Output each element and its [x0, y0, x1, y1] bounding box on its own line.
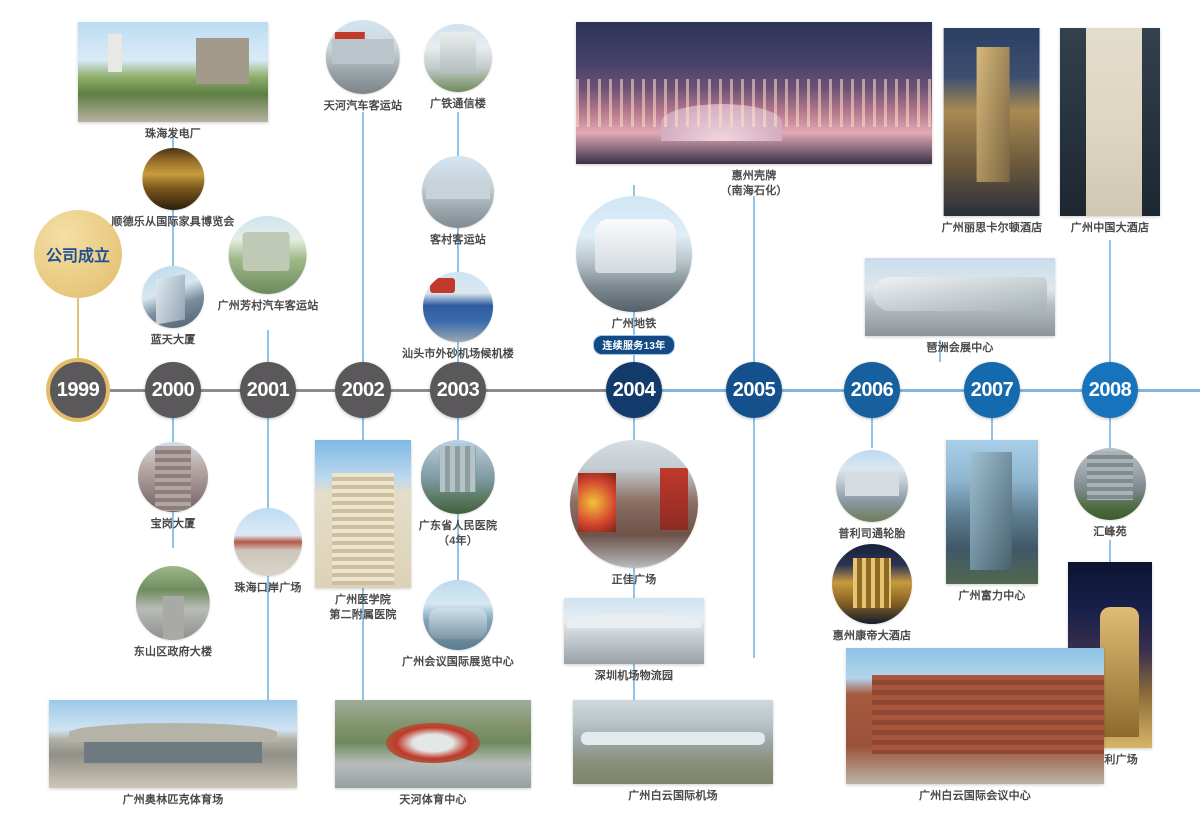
caption: 顺德乐从国际家具博览会 [111, 215, 234, 230]
year-label: 2005 [733, 379, 776, 402]
item-gz-olympic-stadium[interactable]: 广州奥林匹克体育场 [49, 700, 297, 808]
year-node-2007[interactable]: 2007 [964, 362, 1020, 418]
item-baogang-building[interactable]: 宝岗大厦 [138, 442, 208, 532]
item-ritz-carlton-gz[interactable]: 广州丽思卡尔顿酒店 [942, 28, 1043, 236]
caption: 广铁通信楼 [424, 97, 492, 112]
caption: 广州医学院 第二附属医院 [315, 593, 411, 622]
year-node-2004[interactable]: 2004 [606, 362, 662, 418]
caption: 东山区政府大楼 [134, 645, 212, 660]
photo-dongshan-gov-building [136, 566, 210, 640]
photo-huizhou-shell [576, 22, 932, 164]
photo-gd-peoples-hospital [421, 440, 495, 514]
item-shantou-airport[interactable]: 汕头市外砂机场候机楼 [402, 272, 514, 362]
year-node-2002[interactable]: 2002 [335, 362, 391, 418]
caption: 宝岗大厦 [138, 517, 208, 532]
item-bridgestone-tire[interactable]: 普利司通轮胎 [836, 450, 908, 542]
photo-zhuhai-power-plant [78, 22, 268, 122]
caption: 惠州康帝大酒店 [832, 629, 912, 644]
caption: 普利司通轮胎 [836, 527, 908, 542]
year-label: 2002 [342, 379, 385, 402]
photo-shantou-airport [423, 272, 493, 342]
photo-huifeng-yuan [1074, 448, 1146, 520]
caption: 惠州壳牌 （南海石化） [576, 169, 932, 198]
item-dongshan-gov-building[interactable]: 东山区政府大楼 [134, 566, 212, 660]
year-label: 2007 [971, 379, 1014, 402]
year-label: 2000 [152, 379, 195, 402]
stem-2008-up [1109, 240, 1111, 362]
founding-label: 公司成立 [46, 242, 110, 266]
item-guangzhou-metro[interactable]: 广州地铁 连续服务13年 [576, 196, 692, 355]
stem-2005-up [753, 196, 755, 362]
year-node-2003[interactable]: 2003 [430, 362, 486, 418]
year-node-2000[interactable]: 2000 [145, 362, 201, 418]
photo-tianhe-sports-center [335, 700, 531, 788]
photo-gz-intl-convention [423, 580, 493, 650]
item-gz-railway-telecom[interactable]: 广铁通信楼 [424, 24, 492, 112]
caption: 琶洲会展中心 [865, 341, 1055, 356]
caption: 广州会议国际展览中心 [402, 655, 514, 670]
item-huifeng-yuan[interactable]: 汇峰苑 [1074, 448, 1146, 540]
year-label: 1999 [57, 379, 100, 402]
photo-pazhou-expo-center [865, 258, 1055, 336]
year-label: 2004 [613, 379, 656, 402]
caption: 天河体育中心 [335, 793, 531, 808]
caption: 天河汽车客运站 [324, 99, 402, 114]
caption: 广州芳村汽车客运站 [218, 299, 319, 314]
caption: 汕头市外砂机场候机楼 [402, 347, 514, 362]
item-shunde-furniture-expo[interactable]: 顺德乐从国际家具博览会 [111, 148, 234, 230]
photo-huizhou-kangdi-hotel [832, 544, 912, 624]
stem-2008-down [1109, 418, 1111, 448]
caption: 广州奥林匹克体育场 [49, 793, 297, 808]
photo-lantian-building [142, 266, 204, 328]
caption: 广州富力中心 [946, 589, 1038, 604]
caption: 广州白云国际会议中心 [846, 789, 1104, 804]
year-node-1999[interactable]: 1999 [50, 362, 106, 418]
photo-baiyun-intl-conv-ctr [846, 648, 1104, 784]
item-shenzhen-air-logistics[interactable]: 深圳机场物流园 [564, 598, 704, 684]
item-huizhou-shell[interactable]: 惠州壳牌 （南海石化） [576, 22, 932, 198]
photo-gz-olympic-stadium [49, 700, 297, 788]
item-zhuhai-power-plant[interactable]: 珠海发电厂 [78, 22, 268, 142]
stem-2005-down [753, 418, 755, 658]
photo-tianhe-bus-station [326, 20, 400, 94]
metro-service-badge: 连续服务13年 [593, 335, 674, 355]
photo-shunde-furniture-expo [142, 148, 204, 210]
photo-gz-railway-telecom [424, 24, 492, 92]
photo-fangcun-bus-station [229, 216, 307, 294]
year-label: 2003 [437, 379, 480, 402]
item-gd-peoples-hospital[interactable]: 广东省人民医院 （4年） [419, 440, 497, 548]
item-fangcun-bus-station[interactable]: 广州芳村汽车客运站 [218, 216, 319, 314]
founding-bubble[interactable]: 公司成立 [34, 210, 122, 298]
year-node-2005[interactable]: 2005 [726, 362, 782, 418]
caption: 正佳广场 [570, 573, 698, 588]
stem-2002-up [362, 112, 364, 362]
item-baiyun-intl-conv-ctr[interactable]: 广州白云国际会议中心 [846, 648, 1104, 804]
year-label: 2008 [1089, 379, 1132, 402]
photo-bridgestone-tire [836, 450, 908, 522]
caption: 汇峰苑 [1074, 525, 1146, 540]
year-node-2006[interactable]: 2006 [844, 362, 900, 418]
item-baiyun-intl-airport[interactable]: 广州白云国际机场 [573, 700, 773, 804]
item-zhengjia-plaza[interactable]: 正佳广场 [570, 440, 698, 588]
item-lantian-building[interactable]: 蓝天大厦 [142, 266, 204, 348]
item-huizhou-kangdi-hotel[interactable]: 惠州康帝大酒店 [832, 544, 912, 644]
item-gz-intl-convention[interactable]: 广州会议国际展览中心 [402, 580, 514, 670]
caption: 广州白云国际机场 [573, 789, 773, 804]
item-kecun-bus-station[interactable]: 客村客运站 [422, 156, 494, 248]
year-node-2008[interactable]: 2008 [1082, 362, 1138, 418]
caption: 广东省人民医院 （4年） [419, 519, 497, 548]
item-pazhou-expo-center[interactable]: 琶洲会展中心 [865, 258, 1055, 356]
caption: 广州丽思卡尔顿酒店 [942, 221, 1043, 236]
item-tianhe-bus-station[interactable]: 天河汽车客运站 [324, 20, 402, 114]
year-label: 2001 [247, 379, 290, 402]
item-china-hotel-gz[interactable]: 广州中国大酒店 [1060, 28, 1160, 236]
photo-ritz-carlton-gz [944, 28, 1040, 216]
item-zhuhai-port-plaza[interactable]: 珠海口岸广场 [234, 508, 302, 596]
caption: 深圳机场物流园 [564, 669, 704, 684]
year-node-2001[interactable]: 2001 [240, 362, 296, 418]
photo-gz-rf-center [946, 440, 1038, 584]
photo-baogang-building [138, 442, 208, 512]
photo-shenzhen-air-logistics [564, 598, 704, 664]
item-gz-rf-center[interactable]: 广州富力中心 [946, 440, 1038, 604]
photo-baiyun-intl-airport [573, 700, 773, 784]
timeline-infographic: 公司成立 1999 2000 2001 2002 2003 2004 2005 … [0, 0, 1200, 814]
caption: 蓝天大厦 [142, 333, 204, 348]
caption: 广州中国大酒店 [1060, 221, 1160, 236]
caption: 客村客运站 [422, 233, 494, 248]
caption: 珠海发电厂 [78, 127, 268, 142]
photo-kecun-bus-station [422, 156, 494, 228]
caption: 珠海口岸广场 [234, 581, 302, 596]
year-label: 2006 [851, 379, 894, 402]
stem-2001-up [267, 330, 269, 362]
stem-2006-down [871, 418, 873, 448]
photo-guangzhou-metro [576, 196, 692, 312]
photo-zhengjia-plaza [570, 440, 698, 568]
item-gz-medical-hospital[interactable]: 广州医学院 第二附属医院 [315, 440, 411, 622]
photo-gz-medical-hospital [315, 440, 411, 588]
caption: 广州地铁 [576, 317, 692, 332]
stem-founding [77, 298, 79, 362]
item-tianhe-sports-center[interactable]: 天河体育中心 [335, 700, 531, 808]
photo-china-hotel-gz [1060, 28, 1160, 216]
photo-zhuhai-port-plaza [234, 508, 302, 576]
